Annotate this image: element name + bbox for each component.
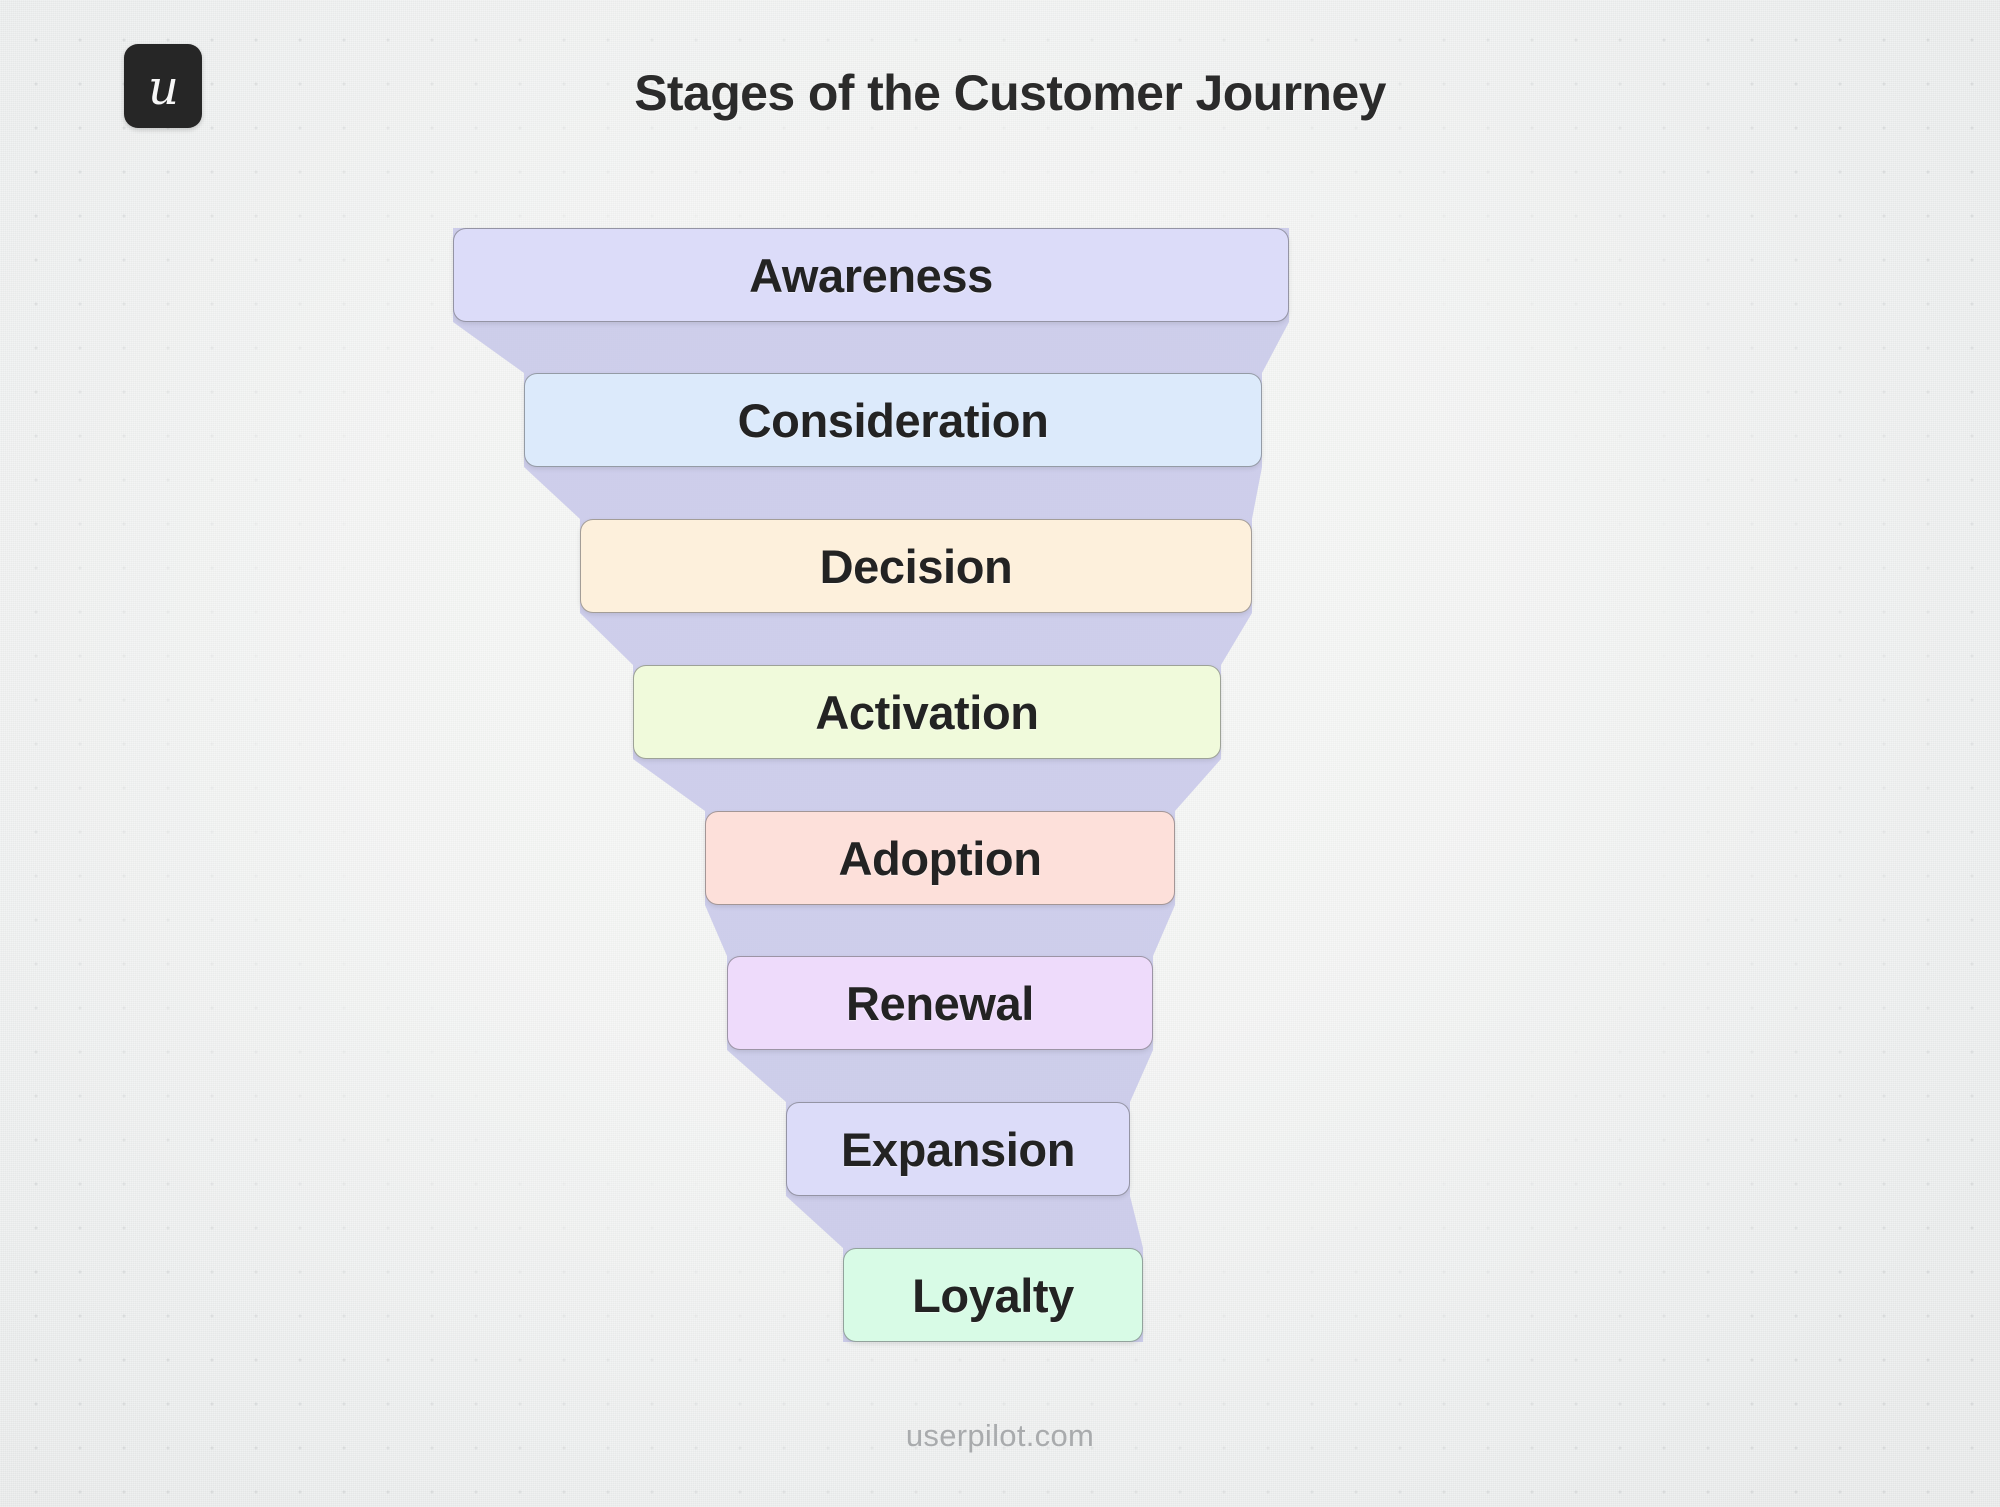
funnel-stage-loyalty[interactable]: Loyalty [843,1248,1143,1342]
funnel-stage-adoption[interactable]: Adoption [705,811,1175,905]
funnel-stage-label: Activation [815,685,1038,740]
funnel-stage-decision[interactable]: Decision [580,519,1252,613]
funnel-stage-consideration[interactable]: Consideration [524,373,1262,467]
funnel-stage-renewal[interactable]: Renewal [727,956,1153,1050]
page-title: Stages of the Customer Journey [0,64,2000,122]
footer-watermark: userpilot.com [0,1418,2000,1454]
funnel-stage-label: Awareness [749,248,993,303]
funnel-stage-label: Decision [820,539,1013,594]
funnel-stage-label: Adoption [839,831,1042,886]
funnel-stage-activation[interactable]: Activation [633,665,1221,759]
slide-canvas: u Stages of the Customer Journey Awarene… [0,0,2000,1507]
funnel-stage-awareness[interactable]: Awareness [453,228,1289,322]
funnel-stage-label: Loyalty [912,1268,1074,1323]
funnel-diagram: AwarenessConsiderationDecisionActivation… [0,228,2000,1388]
funnel-stage-label: Renewal [846,976,1034,1031]
funnel-stage-expansion[interactable]: Expansion [786,1102,1130,1196]
funnel-stage-label: Consideration [738,393,1049,448]
funnel-stage-label: Expansion [841,1122,1075,1177]
